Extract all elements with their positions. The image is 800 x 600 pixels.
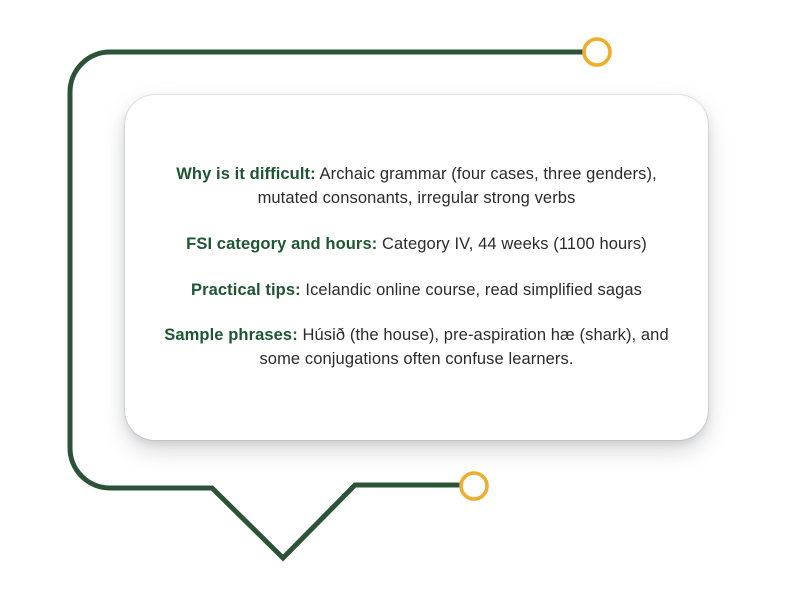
entry-why-is-it-difficult: Why is it difficult: Archaic grammar (fo… — [153, 163, 680, 211]
entry-sample-phrases: Sample phrases: Húsið (the house), pre-a… — [153, 324, 680, 372]
callout-diagram: Why is it difficult: Archaic grammar (fo… — [0, 0, 800, 600]
entry-value: Húsið (the house), pre-aspiration hæ (sh… — [259, 326, 668, 368]
entry-label: FSI category and hours: — [186, 235, 377, 253]
entry-value: Category IV, 44 weeks (1100 hours) — [382, 235, 647, 253]
entry-value: Archaic grammar (four cases, three gende… — [258, 165, 657, 207]
entry-label: Sample phrases: — [164, 326, 298, 344]
bottom-accent-circle-icon — [461, 473, 487, 499]
entry-label: Why is it difficult: — [176, 165, 316, 183]
content-card: Why is it difficult: Archaic grammar (fo… — [125, 95, 708, 440]
top-right-accent-circle-icon — [584, 39, 610, 65]
entry-practical-tips: Practical tips: Icelandic online course,… — [153, 279, 680, 303]
entry-value: Icelandic online course, read simplified… — [305, 281, 642, 299]
entry-label: Practical tips: — [191, 281, 301, 299]
entry-fsi-category-and-hours: FSI category and hours: Category IV, 44 … — [153, 233, 680, 257]
